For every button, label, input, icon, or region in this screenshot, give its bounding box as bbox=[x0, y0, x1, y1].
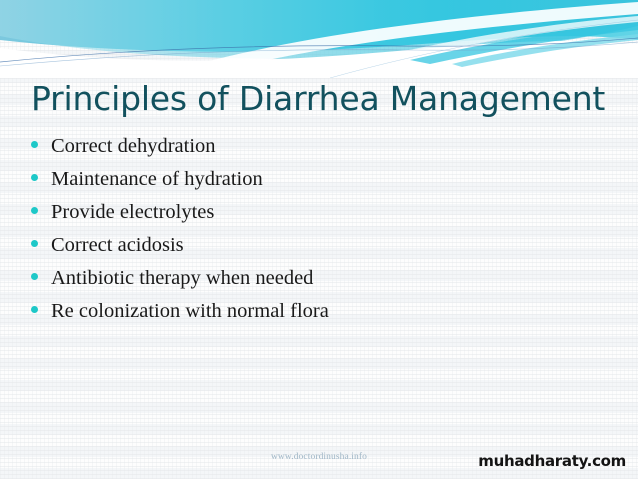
decorative-wave-banner bbox=[0, 0, 638, 78]
list-item-label: Correct acidosis bbox=[51, 233, 184, 257]
list-item: Re colonization with normal flora bbox=[31, 299, 329, 332]
list-item-label: Correct dehydration bbox=[51, 134, 216, 158]
bullet-list: Correct dehydration Maintenance of hydra… bbox=[31, 134, 329, 332]
bullet-dot-icon bbox=[31, 240, 38, 247]
bullet-dot-icon bbox=[31, 207, 38, 214]
list-item: Maintenance of hydration bbox=[31, 167, 329, 200]
list-item-label: Re colonization with normal flora bbox=[51, 299, 329, 323]
bullet-dot-icon bbox=[31, 174, 38, 181]
list-item: Correct dehydration bbox=[31, 134, 329, 167]
list-item: Provide electrolytes bbox=[31, 200, 329, 233]
slide: Principles of Diarrhea Management Correc… bbox=[0, 0, 638, 479]
list-item-label: Antibiotic therapy when needed bbox=[51, 266, 313, 290]
list-item: Antibiotic therapy when needed bbox=[31, 266, 329, 299]
list-item-label: Maintenance of hydration bbox=[51, 167, 263, 191]
bullet-dot-icon bbox=[31, 273, 38, 280]
page-title: Principles of Diarrhea Management bbox=[31, 78, 605, 120]
bullet-dot-icon bbox=[31, 141, 38, 148]
bullet-dot-icon bbox=[31, 306, 38, 313]
list-item: Correct acidosis bbox=[31, 233, 329, 266]
list-item-label: Provide electrolytes bbox=[51, 200, 214, 224]
brand-watermark: muhadharaty.com bbox=[478, 452, 626, 470]
